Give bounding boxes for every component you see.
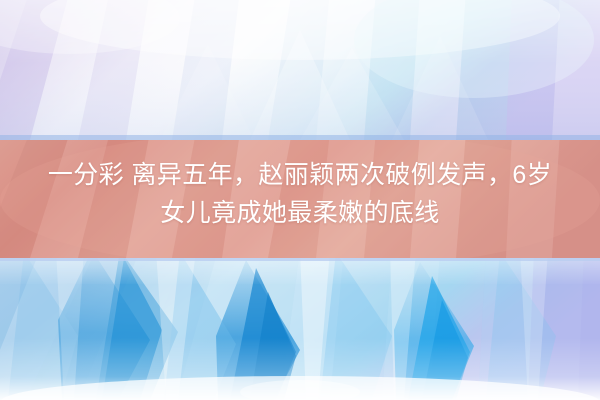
background-headline-band <box>0 130 600 270</box>
background-bottom-band <box>0 250 600 400</box>
banner-canvas: 一分彩 离异五年，赵丽颖两次破例发声，6岁 女儿竟成她最柔嫩的底线 <box>0 0 600 400</box>
background-top-band <box>0 0 600 140</box>
background-artwork <box>0 0 600 400</box>
